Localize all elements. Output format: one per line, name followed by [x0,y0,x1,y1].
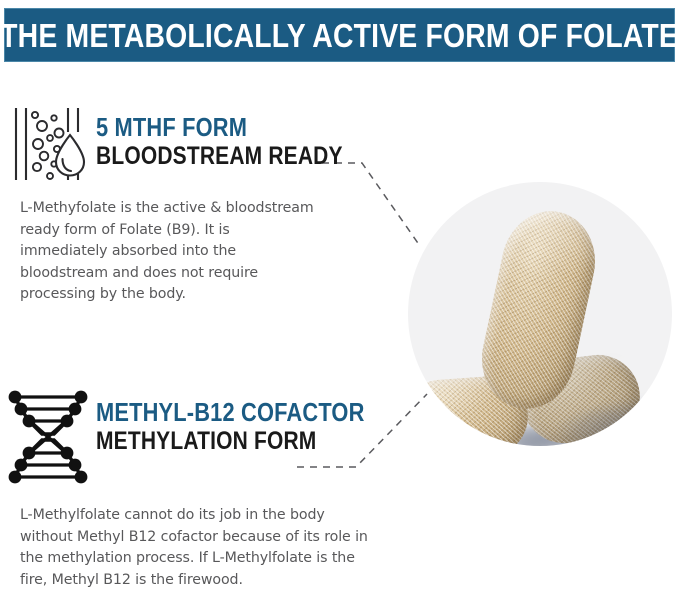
icon-container [0,385,96,485]
capsule-cap [496,203,604,305]
feature-header: 5 MTHF FORM BLOODSTREAM READY [0,100,400,184]
feature-title-sub: METHYLATION FORM [96,428,365,456]
feature-title-main: 5 MTHF FORM [96,114,343,141]
feature-header: METHYL-B12 COFACTOR METHYLATION FORM [0,385,430,485]
feature-body-text: L-Methyfolate is the active & bloodstrea… [20,198,320,306]
bloodstream-droplet-icon [10,104,86,184]
feature-title-sub: BLOODSTREAM READY [96,143,343,171]
feature-titles: 5 MTHF FORM BLOODSTREAM READY [96,100,390,170]
feature-titles: METHYL-B12 COFACTOR METHYLATION FORM [96,385,416,455]
icon-container [0,100,96,184]
header-banner: THE METABOLICALLY ACTIVE FORM OF FOLATE [4,8,675,62]
page-title: THE METABOLICALLY ACTIVE FORM OF FOLATE [1,19,679,52]
product-photo [408,182,672,446]
feature-body-text: L-Methylfolate cannot do its job in the … [20,505,380,591]
feature-title-main: METHYL-B12 COFACTOR [96,399,365,426]
feature-block-mthf: 5 MTHF FORM BLOODSTREAM READY L-Methyfol… [0,100,400,306]
feature-block-b12: METHYL-B12 COFACTOR METHYLATION FORM L-M… [0,385,430,591]
dna-methylation-icon [4,389,92,485]
droplet-shape [56,135,84,176]
